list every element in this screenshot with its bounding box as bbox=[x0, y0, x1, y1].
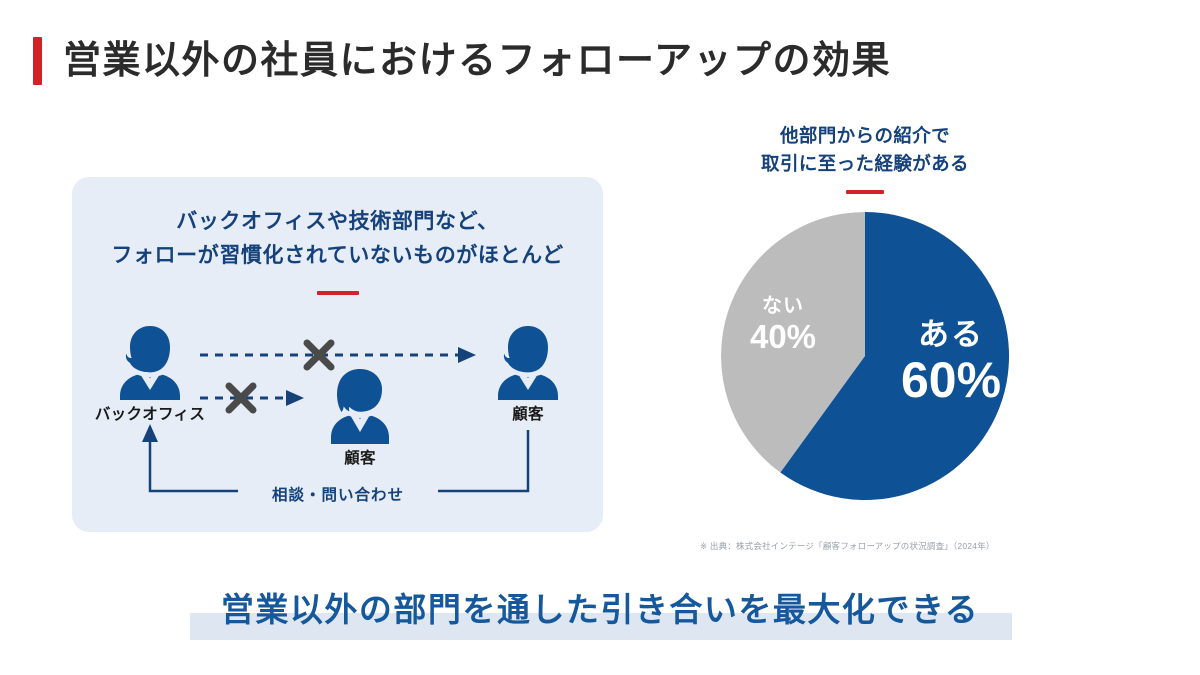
pie-chart-title: 他部門からの紹介で 取引に至った経験がある bbox=[690, 122, 1040, 178]
left-panel-headline-line1: バックオフィスや技術部門など、 bbox=[176, 210, 499, 233]
left-panel: バックオフィスや技術部門など、 フォローが習慣化されていないものがほとんど bbox=[72, 177, 603, 532]
page-title: 営業以外の社員におけるフォローアップの効果 bbox=[33, 34, 891, 88]
pie-label-aru-name: ある bbox=[876, 318, 1026, 351]
person-male-icon bbox=[114, 322, 186, 400]
pie-label-nai-value: 40% bbox=[723, 319, 843, 355]
page-title-text: 営業以外の社員におけるフォローアップの効果 bbox=[63, 42, 891, 80]
diagram-node-back-office: バックオフィス bbox=[114, 322, 186, 424]
inquiry-connector-label: 相談・問い合わせ bbox=[248, 483, 428, 505]
left-panel-headline-line2: フォローが習慣化されていないものがほとんど bbox=[72, 239, 603, 273]
person-female-icon bbox=[324, 366, 396, 444]
diagram-node-label: 顧客 bbox=[478, 402, 578, 424]
person-male-icon bbox=[492, 322, 564, 400]
blocked-arrow-top bbox=[200, 347, 476, 363]
conclusion-banner: 営業以外の部門を通した引き合いを最大化できる bbox=[150, 580, 1050, 650]
title-accent-bar bbox=[33, 37, 42, 85]
left-panel-accent-rule bbox=[317, 291, 359, 295]
source-note: ※ 出典：株式会社インテージ「顧客フォローアップの状況調査」（2024年） bbox=[700, 540, 1040, 552]
banner-text: 営業以外の部門を通した引き合いを最大化できる bbox=[150, 580, 1050, 640]
pie-label-aru: ある 60% bbox=[876, 318, 1026, 407]
pie-chart-section: 他部門からの紹介で 取引に至った経験がある ある 60% ない 40% ※ 出典… bbox=[690, 122, 1040, 562]
diagram-node-customer-right: 顧客 bbox=[492, 322, 564, 424]
pie-chart-title-line1: 他部門からの紹介で bbox=[780, 125, 950, 146]
diagram-node-label: バックオフィス bbox=[82, 402, 218, 424]
pie-label-aru-value: 60% bbox=[876, 353, 1026, 407]
pie-title-accent-rule bbox=[846, 190, 884, 194]
slide-root: 営業以外の社員におけるフォローアップの効果 バックオフィスや技術部門など、 フォ… bbox=[0, 0, 1200, 675]
diagram-node-customer-center: 顧客 bbox=[324, 366, 396, 468]
diagram-node-label: 顧客 bbox=[310, 446, 410, 468]
pie-label-nai-name: ない bbox=[723, 296, 843, 318]
pie-label-nai: ない 40% bbox=[723, 296, 843, 354]
followup-diagram: バックオフィス 顧客 顧客 相談・問い合わせ bbox=[72, 320, 603, 532]
left-panel-headline: バックオフィスや技術部門など、 フォローが習慣化されていないものがほとんど bbox=[72, 205, 603, 273]
pie-chart-title-line2: 取引に至った経験がある bbox=[761, 153, 969, 174]
